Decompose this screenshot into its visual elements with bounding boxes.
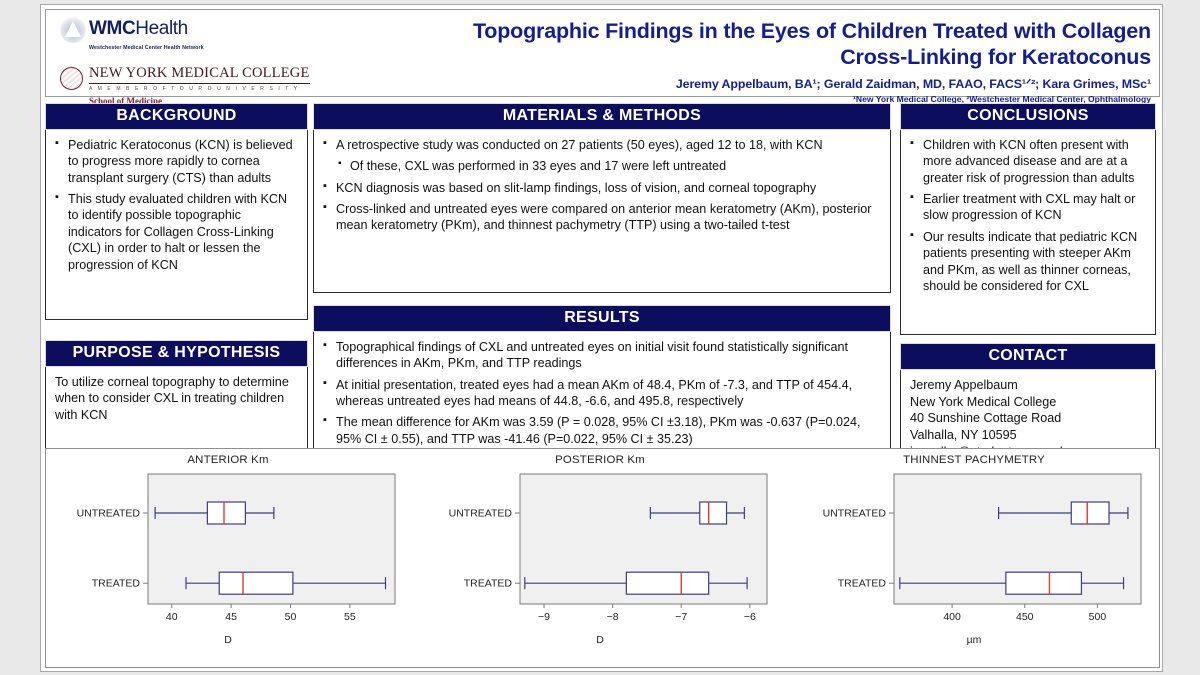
list-item: Of these, CXL was performed in 33 eyes a…: [336, 158, 881, 174]
list-item: A retrospective study was conducted on 2…: [323, 137, 881, 175]
section-heading-materials: MATERIALS & METHODS: [313, 103, 891, 130]
wmc-wordmark: WMCHealth: [89, 19, 188, 38]
list-item: KCN diagnosis was based on slit-lamp fin…: [323, 180, 881, 196]
svg-text:−7: −7: [675, 611, 687, 623]
section-heading-conclusions: CONCLUSIONS: [900, 103, 1156, 130]
chart-xlabel: D: [424, 634, 776, 646]
boxplot-thinnest-pachymetry: THINNEST PACHYMETRY 400450500UNTREATEDTR…: [798, 451, 1150, 665]
svg-text:UNTREATED: UNTREATED: [823, 508, 887, 520]
svg-text:40: 40: [166, 611, 178, 623]
section-materials-methods: MATERIALS & METHODS A retrospective stud…: [313, 103, 891, 293]
contact-name: Jeremy Appelbaum: [910, 377, 1146, 394]
chart-title: POSTERIOR Km: [424, 454, 776, 466]
wmc-triangle-icon: [60, 17, 86, 43]
logo-group: WMCHealth Westchester Medical Center Hea…: [60, 16, 390, 106]
section-body-materials: A retrospective study was conducted on 2…: [313, 130, 891, 293]
poster-title-line1: Topographic Findings in the Eyes of Chil…: [383, 18, 1151, 44]
wmc-wordmark-bold: WMC: [89, 18, 135, 39]
section-body-conclusions: Children with KCN often present with mor…: [900, 130, 1156, 335]
figures-panel: ANTERIOR Km 40455055UNTREATEDTREATED D P…: [45, 448, 1160, 668]
poster-canvas: WMCHealth Westchester Medical Center Hea…: [40, 4, 1163, 672]
section-heading-background: BACKGROUND: [45, 103, 308, 130]
svg-text:UNTREATED: UNTREATED: [77, 508, 141, 520]
svg-text:TREATED: TREATED: [464, 578, 513, 590]
section-heading-purpose: PURPOSE & HYPOTHESIS: [45, 340, 308, 367]
svg-text:500: 500: [1089, 611, 1107, 623]
svg-text:−6: −6: [744, 611, 756, 623]
section-heading-results: RESULTS: [313, 305, 891, 332]
poster-header: WMCHealth Westchester Medical Center Hea…: [45, 9, 1160, 97]
materials-bullet-list: A retrospective study was conducted on 2…: [323, 137, 881, 234]
nymc-logo: NEW YORK MEDICAL COLLEGE A M E M B E R O…: [60, 65, 390, 106]
section-body-background: Pediatric Keratoconus (KCN) is believed …: [45, 130, 308, 320]
boxplot-posterior-km: POSTERIOR Km −9−8−7−6UNTREATEDTREATED D: [424, 451, 776, 665]
svg-text:450: 450: [1016, 611, 1034, 623]
list-item: Topographical findings of CXL and untrea…: [323, 339, 881, 372]
nymc-name: NEW YORK MEDICAL COLLEGE: [89, 65, 310, 84]
svg-text:−9: −9: [538, 611, 550, 623]
svg-text:45: 45: [225, 611, 237, 623]
svg-text:UNTREATED: UNTREATED: [449, 508, 513, 520]
section-results: RESULTS Topographical findings of CXL an…: [313, 305, 891, 464]
nymc-member-line: A M E M B E R O F T O U R O U N I V E R …: [89, 86, 310, 92]
wmc-wordmark-light: Health: [135, 18, 188, 39]
author-list: Jeremy Appelbaum, BA¹; Gerald Zaidman, M…: [383, 76, 1151, 91]
chart-title: THINNEST PACHYMETRY: [798, 454, 1150, 466]
contact-street: 40 Sunshine Cottage Road: [910, 410, 1146, 427]
wmc-health-logo: WMCHealth: [60, 16, 390, 43]
section-heading-contact: CONTACT: [900, 343, 1156, 370]
list-item: The mean difference for AKm was 3.59 (P …: [323, 414, 881, 447]
svg-text:TREATED: TREATED: [92, 578, 141, 590]
chart-title: ANTERIOR Km: [52, 454, 404, 466]
title-block: Topographic Findings in the Eyes of Chil…: [383, 18, 1151, 104]
svg-text:−8: −8: [607, 611, 619, 623]
list-item: Children with KCN often present with mor…: [910, 137, 1146, 186]
svg-text:50: 50: [285, 611, 297, 623]
list-item: Cross-linked and untreated eyes were com…: [323, 201, 881, 234]
nymc-seal-icon: [60, 67, 83, 90]
list-item: Our results indicate that pediatric KCN …: [910, 229, 1146, 294]
list-item: This study evaluated children with KCN t…: [55, 191, 298, 273]
boxplot-anterior-km: ANTERIOR Km 40455055UNTREATEDTREATED D: [52, 451, 404, 665]
list-item: Pediatric Keratoconus (KCN) is believed …: [55, 137, 298, 186]
poster-title: Topographic Findings in the Eyes of Chil…: [383, 18, 1151, 70]
materials-sub-bullet-list: Of these, CXL was performed in 33 eyes a…: [336, 158, 881, 174]
chart-xlabel: µm: [798, 634, 1150, 646]
list-item-text: A retrospective study was conducted on 2…: [336, 138, 823, 152]
poster-title-line2: Cross-Linking for Keratoconus: [383, 44, 1151, 70]
contact-org: New York Medical College: [910, 394, 1146, 411]
section-contact: CONTACT Jeremy Appelbaum New York Medica…: [900, 343, 1156, 464]
svg-text:400: 400: [943, 611, 961, 623]
section-conclusions: CONCLUSIONS Children with KCN often pres…: [900, 103, 1156, 335]
contact-city: Valhalla, NY 10595: [910, 427, 1146, 444]
section-purpose: PURPOSE & HYPOTHESIS To utilize corneal …: [45, 340, 308, 464]
conclusions-bullet-list: Children with KCN often present with mor…: [910, 137, 1146, 294]
chart-canvas: −9−8−7−6UNTREATEDTREATED: [424, 466, 776, 636]
list-item: Earlier treatment with CXL may halt or s…: [910, 191, 1146, 224]
chart-canvas: 400450500UNTREATEDTREATED: [798, 466, 1150, 636]
svg-text:TREATED: TREATED: [838, 578, 887, 590]
svg-text:55: 55: [344, 611, 356, 623]
background-bullet-list: Pediatric Keratoconus (KCN) is believed …: [55, 137, 298, 273]
purpose-text: To utilize corneal topography to determi…: [55, 374, 298, 423]
chart-xlabel: D: [52, 634, 404, 646]
section-background: BACKGROUND Pediatric Keratoconus (KCN) i…: [45, 103, 308, 320]
wmc-logo-subtitle: Westchester Medical Center Health Networ…: [89, 45, 390, 51]
chart-canvas: 40455055UNTREATEDTREATED: [52, 466, 404, 636]
section-body-results: Topographical findings of CXL and untrea…: [313, 332, 891, 464]
list-item: At initial presentation, treated eyes ha…: [323, 377, 881, 410]
